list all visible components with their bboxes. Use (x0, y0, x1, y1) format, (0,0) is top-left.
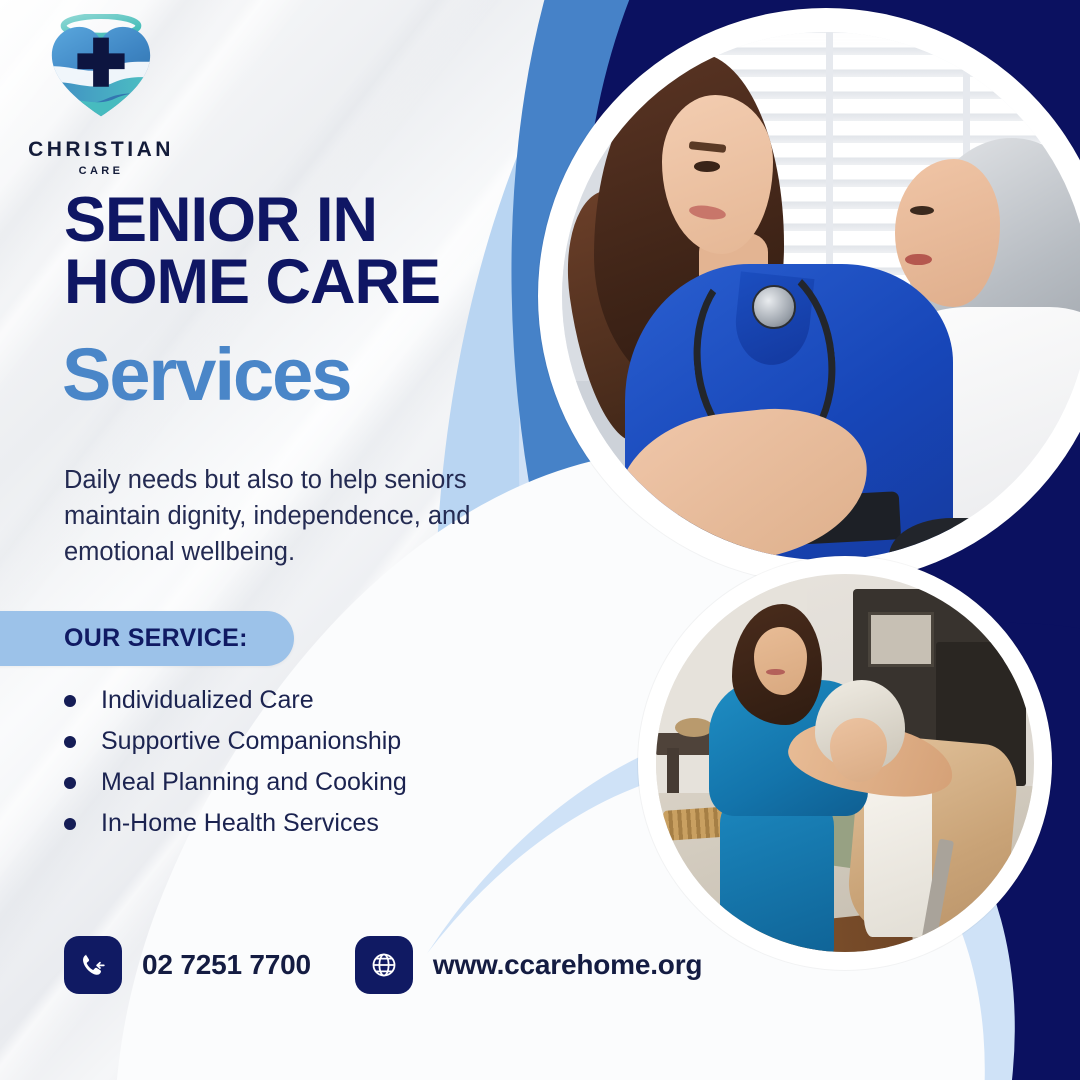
hero-subtext: Daily needs but also to help seniors mai… (64, 462, 516, 571)
stethoscope-bell (752, 285, 796, 329)
photo-scene-hospital-room (562, 32, 1080, 560)
bullet-dot-icon (64, 736, 76, 748)
brand-name: CHRISTIAN (26, 138, 176, 162)
list-item: Meal Planning and Cooking (64, 768, 524, 797)
services-list: Individualized Care Supportive Companion… (64, 686, 524, 850)
poster-canvas: CHRISTIAN CARE SENIOR IN HOME CARE Servi… (0, 0, 1080, 1080)
contact-bar: 02 7251 7700 www.ccarehome.org (64, 936, 702, 994)
page-title: SENIOR IN HOME CARE (64, 190, 534, 313)
nurse-eye (694, 161, 720, 172)
phone-incoming-icon[interactable] (64, 936, 122, 994)
website-url[interactable]: www.ccarehome.org (433, 949, 702, 981)
brand-subname: CARE (26, 165, 176, 177)
caregiver-scrub-pants (720, 801, 833, 952)
photo-scene-living-room (656, 574, 1034, 952)
decor-bowl (675, 718, 713, 737)
service-label: Supportive Companionship (101, 727, 401, 756)
list-item: Individualized Care (64, 686, 524, 715)
service-label: Meal Planning and Cooking (101, 768, 407, 797)
wall-picture-frame (868, 612, 934, 667)
bullet-dot-icon (64, 777, 76, 789)
headline-line-2: HOME CARE (64, 252, 534, 314)
bullet-dot-icon (64, 695, 76, 707)
list-item: In-Home Health Services (64, 809, 524, 838)
headline-line-1: SENIOR IN (64, 190, 534, 252)
service-label: In-Home Health Services (101, 809, 379, 838)
caregiver-lips (766, 669, 785, 676)
brand-logo[interactable]: CHRISTIAN CARE (26, 14, 176, 177)
globe-icon[interactable] (355, 936, 413, 994)
our-service-badge: OUR SERVICE: (0, 611, 294, 666)
service-label: Individualized Care (101, 686, 314, 715)
senior-lips (905, 254, 931, 266)
heart-cross-halo-icon (42, 14, 160, 136)
photo-nurse-helping-senior-stand (656, 574, 1034, 952)
list-item: Supportive Companionship (64, 727, 524, 756)
caregiver-face (754, 627, 807, 695)
photo-nurse-with-elderly-woman-wheelchair (562, 32, 1080, 560)
phone-number: 02 7251 7700 (142, 949, 311, 981)
bullet-dot-icon (64, 818, 76, 830)
senior-face-2 (830, 718, 887, 782)
headline-accent: Services (62, 338, 532, 412)
